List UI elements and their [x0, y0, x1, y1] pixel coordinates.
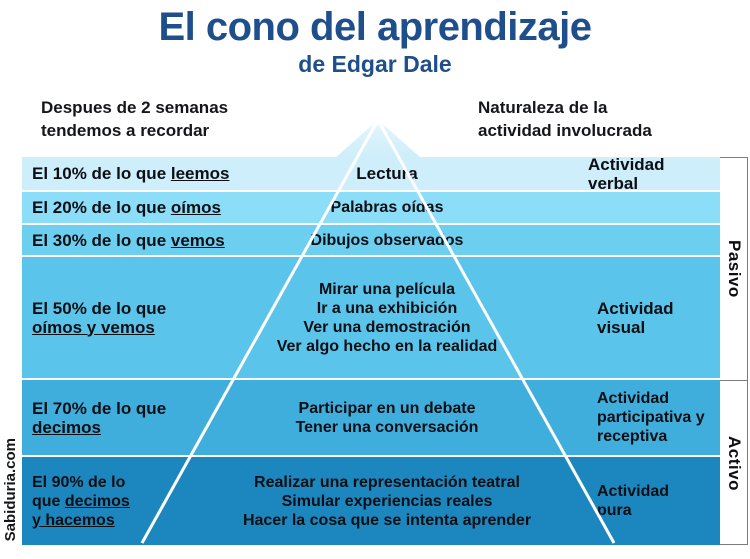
cone-row: El 70% de lo que decimosParticipar en un…	[22, 380, 720, 457]
row-nature-label: Actividad visual	[597, 257, 722, 378]
row-activity-label: Realizar una representación teatral Simu…	[187, 457, 587, 545]
row-activity-label: Mirar una película Ir a una exhibición V…	[187, 257, 587, 378]
column-header-activity-nature: Naturaleza de la actividad involucrada	[478, 96, 728, 142]
cone-row: El 20% de lo que oímosPalabras oídas	[22, 192, 720, 225]
row-nature-label: Actividad verbal	[588, 157, 713, 190]
cone-row: El 30% de lo que vemosDibujos observados	[22, 225, 720, 257]
watermark: Sabiduria.com	[0, 430, 23, 550]
column-header-retention: Despues de 2 semanas tendemos a recordar	[41, 96, 331, 142]
cone-apex	[335, 120, 421, 158]
row-nature-label: Actividad participativa y receptiva	[597, 380, 722, 455]
page-title: El cono del aprendizaje	[0, 4, 750, 50]
row-activity-label: Palabras oídas	[187, 192, 587, 223]
row-nature-label: Actividad pura	[597, 457, 722, 545]
cone-row: El 50% de lo que oímos y vemosMirar una …	[22, 257, 720, 380]
row-activity-label: Dibujos observados	[187, 225, 587, 255]
row-activity-label: Lectura	[187, 157, 587, 190]
group-label-activo: Activo	[720, 381, 748, 545]
page-subtitle: de Edgar Dale	[0, 51, 750, 78]
cone-row: El 10% de lo que leemosLecturaActividad …	[22, 157, 720, 192]
group-label-pasivo: Pasivo	[720, 157, 748, 380]
cone-row: El 90% de lo que decimos y hacemosRealiz…	[22, 457, 720, 545]
cone-rows: El 10% de lo que leemosLecturaActividad …	[22, 157, 720, 545]
row-activity-label: Participar en un debate Tener una conver…	[187, 380, 587, 455]
learning-cone-infographic: El cono del aprendizaje de Edgar Dale De…	[0, 0, 750, 559]
